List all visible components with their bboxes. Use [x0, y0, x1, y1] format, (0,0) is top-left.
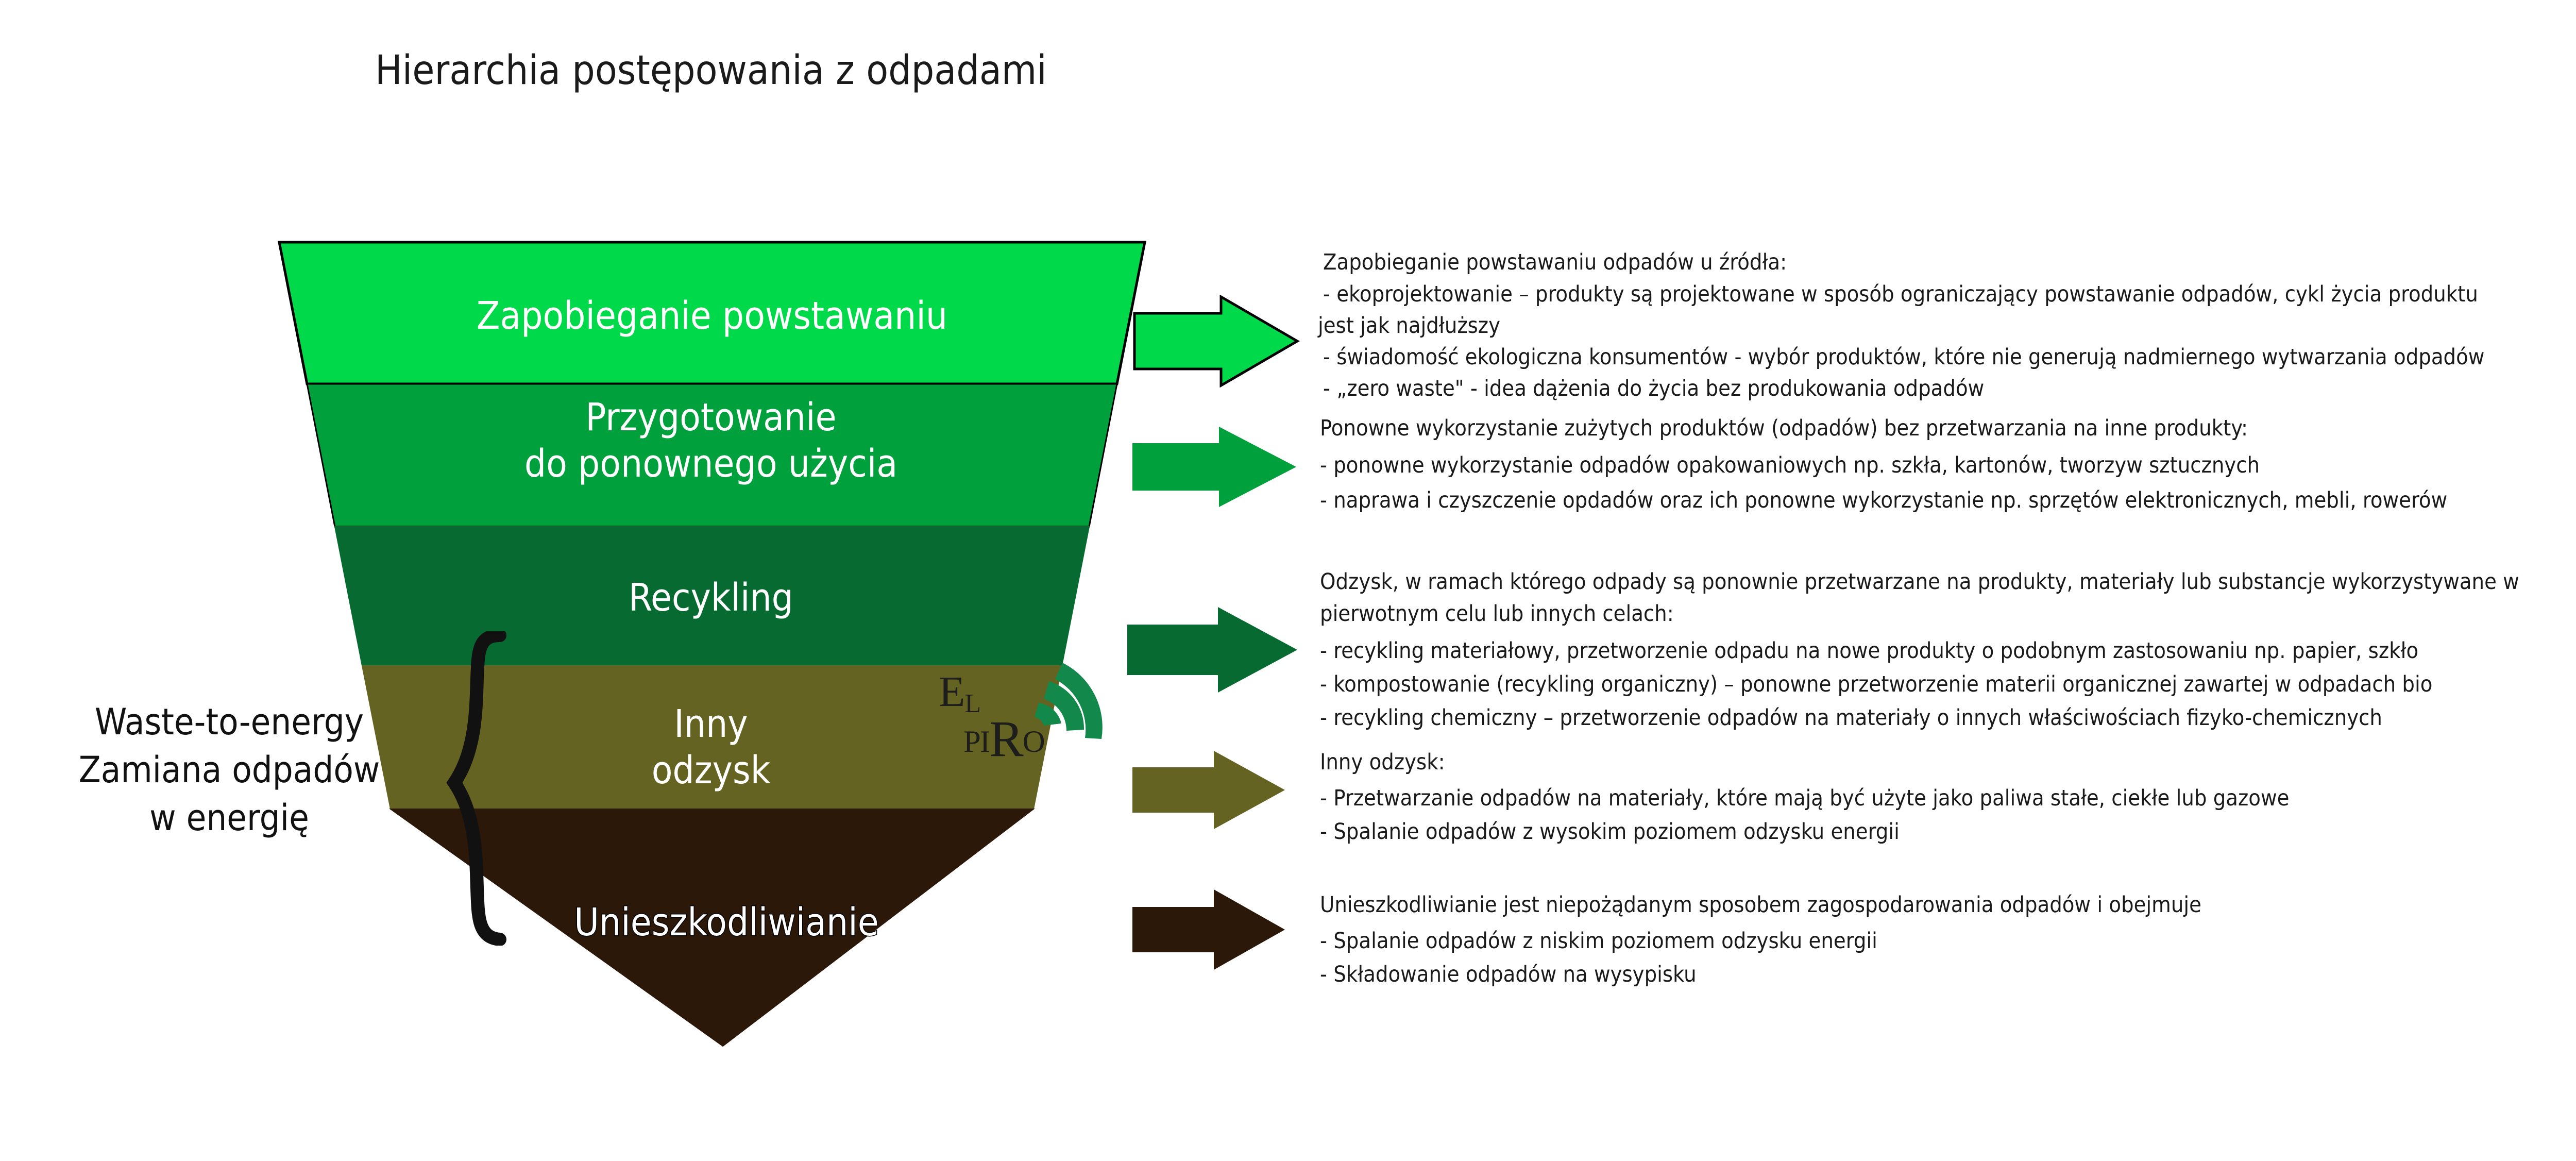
desc-line-1-3: - świadomość ekologiczna konsumentów - w…	[1323, 341, 2576, 373]
pyramid-tier-label-1: Zapobieganie powstawaniu	[331, 293, 1093, 339]
desc-heading-4: Inny odzysk:	[1320, 746, 2576, 778]
waste-hierarchy-infographic: Hierarchia postępowania z odpadami Zapob…	[0, 0, 2576, 1161]
desc-line-4-2: - Spalanie odpadów z wysokim poziomem od…	[1320, 816, 2576, 848]
desc-heading-5: Unieszkodliwianie jest niepożądanym spos…	[1320, 889, 2576, 921]
curly-brace-icon	[422, 631, 515, 946]
pyramid-tier-label-3: Recykling	[386, 575, 1036, 621]
desc-heading-3: Odzysk, w ramach którego odpady są ponow…	[1320, 566, 2576, 630]
arrow-tier-4[interactable]	[1132, 750, 1338, 832]
arrow-tier-2[interactable]	[1132, 426, 1338, 508]
desc-heading-2: Ponowne wykorzystanie zużytych produktów…	[1320, 412, 2576, 444]
desc-line-3-3: - recykling chemiczny – przetworzenie od…	[1320, 702, 2576, 734]
desc-line-3-2: - kompostowanie (recykling organiczny) –…	[1320, 668, 2576, 700]
desc-heading-1: Zapobieganie powstawaniu odpadów u źródł…	[1323, 246, 2570, 278]
desc-line-3-1: - recykling materiałowy, przetworzenie o…	[1320, 635, 2576, 667]
page-title: Hierarchia postępowania z odpadami	[375, 47, 1047, 94]
signal-waves-icon	[1024, 661, 1112, 771]
arrow-tier-1[interactable]	[1132, 295, 1338, 388]
desc-line-1-4: - „zero waste" - idea dążenia do życia b…	[1323, 373, 2570, 405]
pyramid-tier-label-2: Przygotowanie do ponownego użycia	[355, 394, 1066, 487]
desc-line-5-2: - Składowanie odpadów na wysypisku	[1320, 958, 2576, 990]
desc-line-2-2: - naprawa i czyszczenie opdadów oraz ich…	[1320, 484, 2576, 516]
desc-line-2-1: - ponowne wykorzystanie odpadów opakowan…	[1320, 449, 2576, 481]
desc-line-5-1: - Spalanie odpadów z niskim poziomem odz…	[1320, 925, 2576, 957]
waste-to-energy-label: Waste-to-energy Zamiana odpadów w energi…	[49, 698, 410, 842]
arrow-tier-5[interactable]	[1132, 887, 1338, 972]
desc-line-1-1: - ekoprojektowanie – produkty są projekt…	[1323, 278, 2576, 310]
elpiro-logo[interactable]: EL PIRO	[927, 665, 1103, 778]
desc-line-4-1: - Przetwarzanie odpadów na materiały, kt…	[1320, 782, 2576, 814]
arrow-tier-3[interactable]	[1127, 606, 1344, 694]
desc-line-1-2: jest jak najdłuższy	[1318, 310, 2565, 342]
